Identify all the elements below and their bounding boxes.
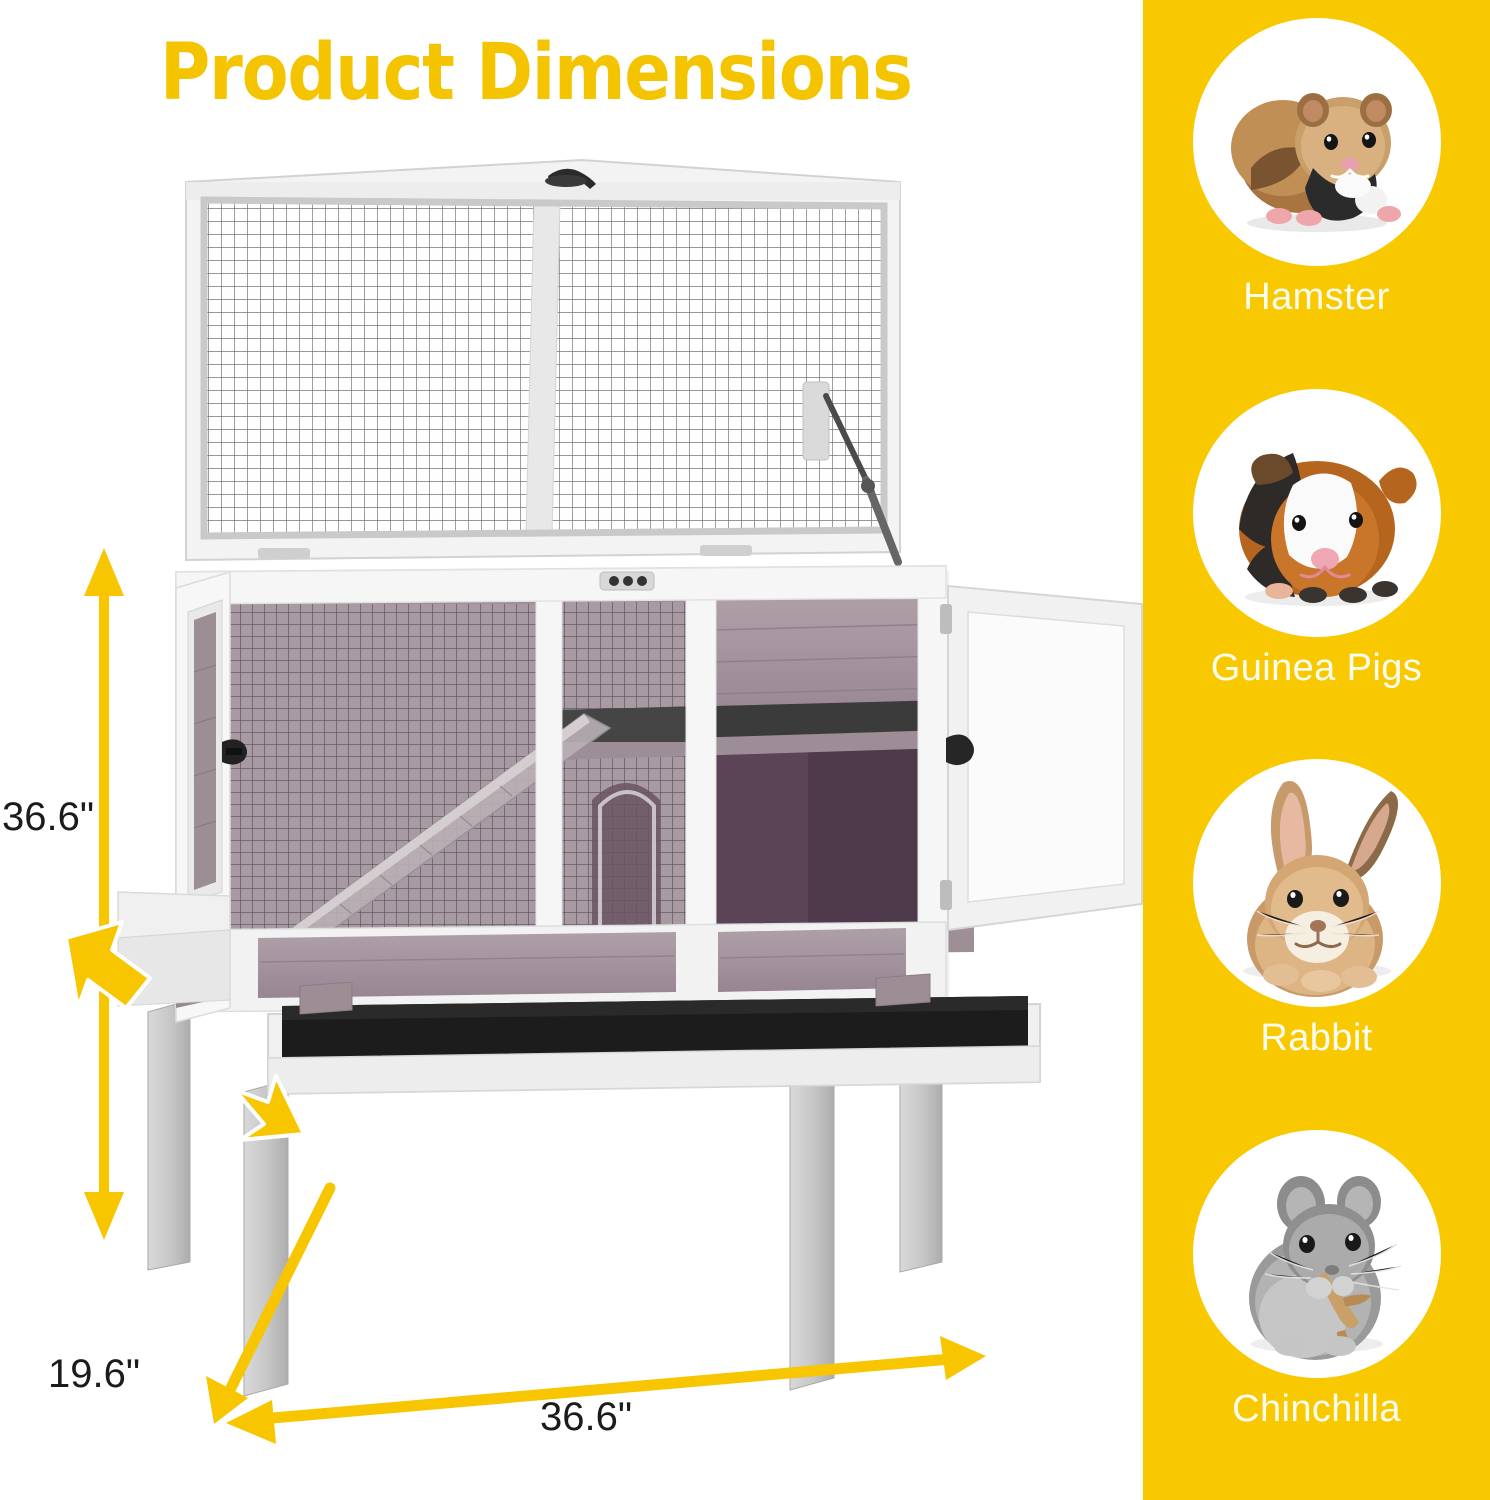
depth-arrow <box>206 1188 330 1424</box>
chinchilla-photo <box>1193 1130 1441 1378</box>
tray-arrow <box>235 1076 304 1140</box>
sidebar-label-hamster: Hamster <box>1243 276 1389 319</box>
pet-types-sidebar: Hamster <box>1143 0 1490 1500</box>
guinea-pig-photo <box>1193 389 1441 637</box>
dimension-height-label: 36.6" <box>2 795 94 840</box>
sidebar-item-guinea-pigs[interactable]: Guinea Pigs <box>1143 389 1490 760</box>
lift-arrow <box>66 922 150 1008</box>
dimension-depth-label: 19.6" <box>48 1352 140 1397</box>
height-arrow <box>84 548 124 1240</box>
rabbit-photo <box>1193 759 1441 1007</box>
sidebar-item-chinchilla[interactable]: Chinchilla <box>1143 1130 1490 1500</box>
sidebar-item-rabbit[interactable]: Rabbit <box>1143 759 1490 1130</box>
sidebar-label-rabbit: Rabbit <box>1260 1017 1372 1060</box>
hamster-photo <box>1193 18 1441 266</box>
sidebar-label-guinea-pigs: Guinea Pigs <box>1211 647 1422 690</box>
dimension-arrows <box>0 0 1143 1500</box>
dimension-width-label: 36.6" <box>540 1395 632 1440</box>
infographic-root: Product Dimensions <box>0 0 1490 1500</box>
sidebar-label-chinchilla: Chinchilla <box>1232 1388 1401 1431</box>
sidebar-item-hamster[interactable]: Hamster <box>1143 18 1490 389</box>
